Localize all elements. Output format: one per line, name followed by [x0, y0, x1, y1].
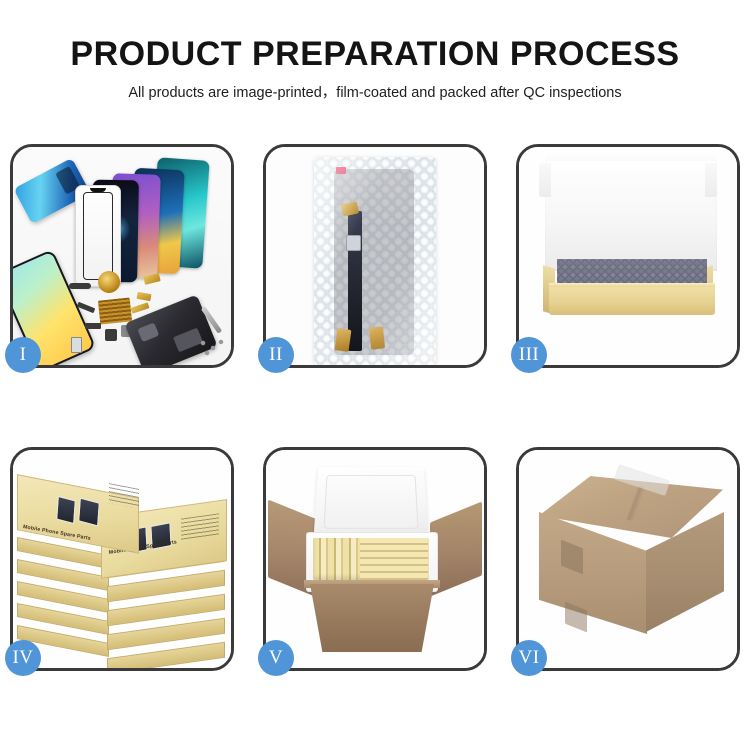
panel-inner-box[interactable]: III [516, 144, 740, 368]
part-camera [105, 329, 117, 341]
box-lid-ear-left [539, 163, 551, 197]
carton-front-wall [310, 584, 434, 652]
panel-products-overview[interactable]: I [10, 144, 234, 368]
panel-bubble-wrapped-part[interactable]: II [263, 144, 487, 368]
part-flex-b [85, 323, 101, 329]
panel-v-photo [266, 450, 484, 668]
part-coil [98, 271, 120, 293]
panel-badge-vi: VI [511, 640, 547, 676]
panel-foam-carton[interactable]: V [263, 447, 487, 671]
part-sim-tray [71, 337, 82, 353]
panel-badge-ii: II [258, 337, 294, 373]
panel-badge-i: I [5, 337, 41, 373]
panel-ii-photo [266, 147, 484, 365]
panel-badge-iv: IV [5, 640, 41, 676]
page-title: PRODUCT PREPARATION PROCESS [0, 34, 750, 74]
panel-stacked-boxes[interactable]: Mobile Phone Spare Parts Mobile Phone Sp… [10, 447, 234, 671]
panel-vi-photo [519, 450, 737, 668]
panel-sealed-carton[interactable]: VI [516, 447, 740, 671]
panel-i-photo [13, 147, 231, 365]
foam-box-lid [314, 467, 429, 538]
box-lid-panel [545, 161, 717, 271]
panel-badge-iii: III [511, 337, 547, 373]
panel-iii-photo [519, 147, 737, 365]
retail-boxes-row-back [360, 538, 428, 580]
page-header: PRODUCT PREPARATION PROCESS All products… [0, 0, 750, 103]
part-bar [69, 283, 91, 289]
part-connector-grid [98, 297, 132, 324]
box-tray-front [549, 287, 715, 315]
bubble-wrap-sheen [314, 157, 436, 365]
panel-iv-photo: Mobile Phone Spare Parts Mobile Phone Sp… [13, 450, 231, 668]
page-subtitle: All products are image-printed，film-coat… [0, 83, 750, 103]
box-lid-ear-right [705, 163, 717, 197]
process-panel-grid: I II [10, 144, 740, 671]
panel-badge-v: V [258, 640, 294, 676]
bubble-wrap-pack [314, 157, 436, 365]
part-screws [199, 339, 225, 357]
